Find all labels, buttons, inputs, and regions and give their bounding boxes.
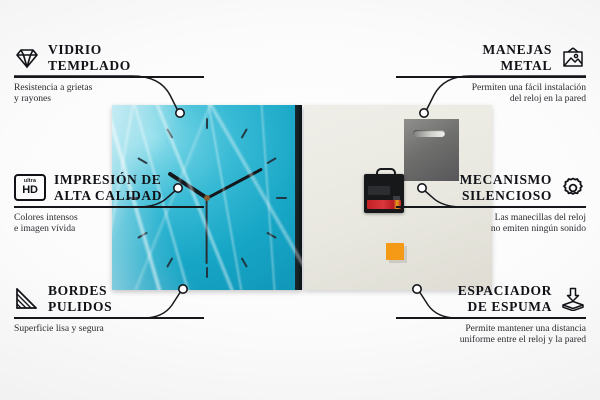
feature-title: VIDRIO TEMPLADO [48,42,131,73]
feature-description: Permiten una fácil instalación del reloj… [396,82,586,105]
ultra-hd-icon: ultra HD [14,174,46,201]
divider [14,206,204,208]
divider [14,76,204,78]
arrow-down-pad-icon [560,287,586,311]
mechanism-detail [368,186,390,195]
feature-title: MECANISMO SILENCIOSO [460,172,552,203]
feature-description: Las manecillas del reloj no emiten ningú… [396,212,586,235]
feature-title: BORDES PULIDOS [48,283,112,314]
feature-espaciador-espuma: ESPACIADOR DE ESPUMA Permite mantener un… [396,283,586,346]
divider [396,317,586,319]
foam-spacer [386,243,404,260]
feature-description: Resistencia a grietas y rayones [14,82,204,105]
gear-icon [560,176,586,200]
clock-minute-hand [206,167,262,199]
feature-description: Permite mantener una distancia uniforme … [396,323,586,346]
diamond-icon [14,46,40,70]
feature-description: Superficie lisa y segura [14,323,204,335]
feature-impresion-alta-calidad: ultra HD IMPRESIÓN DE ALTA CALIDAD Color… [14,172,204,235]
feature-manejas-metal: MANEJAS METAL Permiten una fácil instala… [396,42,586,105]
clock-second-hand [206,198,208,264]
feature-bordes-pulidos: BORDES PULIDOS Superficie lisa y segura [14,283,204,334]
hanger-slot [413,130,445,137]
divider [396,206,586,208]
feature-title: IMPRESIÓN DE ALTA CALIDAD [54,172,162,203]
feature-vidrio-templado: VIDRIO TEMPLADO Resistencia a grietas y … [14,42,204,105]
feature-title: ESPACIADOR DE ESPUMA [458,283,552,314]
divider [396,76,586,78]
infographic-canvas: VIDRIO TEMPLADO Resistencia a grietas y … [0,0,600,400]
polished-edges-icon [14,287,40,311]
ultra-hd-icon-main-text: HD [22,185,38,196]
clock-center-cap [204,195,210,201]
divider [14,317,204,319]
feature-title: MANEJAS METAL [483,42,552,73]
clock-side-edge [295,105,302,290]
feature-mecanismo-silencioso: MECANISMO SILENCIOSO Las manecillas del … [396,172,586,235]
feature-description: Colores intensos e imagen vívida [14,212,204,235]
picture-frame-hanging-icon [560,46,586,70]
